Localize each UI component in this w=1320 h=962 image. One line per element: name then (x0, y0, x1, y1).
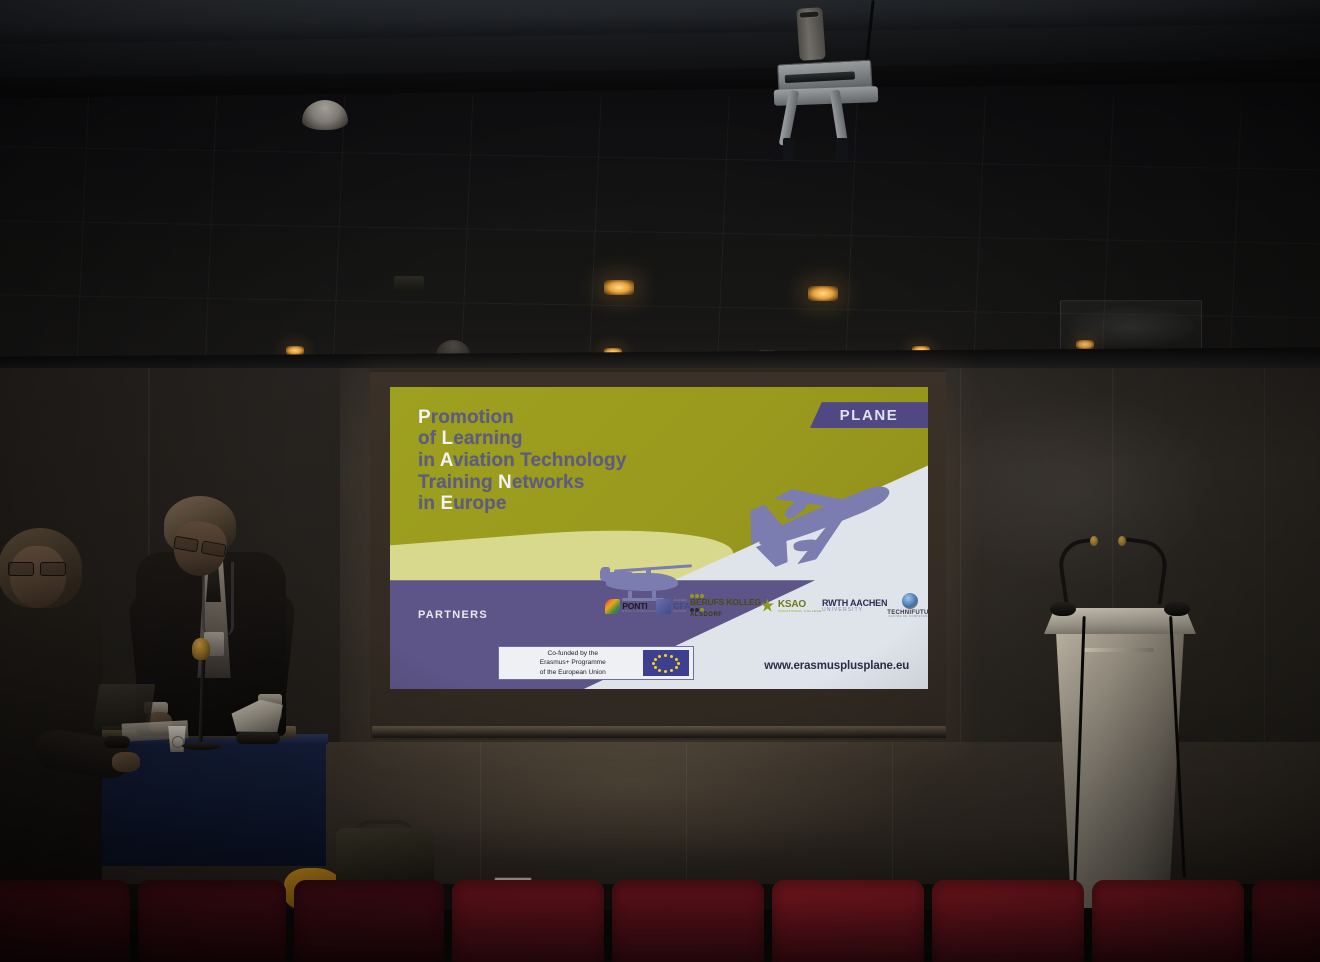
presentation-slide: PLANE Promotion of Learning in Aviation … (390, 387, 928, 689)
project-website-url: www.erasmusplusplane.eu (764, 660, 909, 672)
lectern-label-slot (1082, 648, 1154, 652)
logo-sub-text: VOCATIONAL COLLEGE (778, 610, 822, 613)
title-line-5: in Europe (418, 493, 626, 515)
title-line-3: in Aviation Technology (418, 450, 626, 472)
logo-sub-text: ALSDORF (690, 612, 723, 618)
screen-bottom-bar (372, 726, 946, 738)
auditorium-seat[interactable] (772, 880, 924, 962)
projector-lens-housing (796, 7, 826, 61)
title-line-2: of Learning (418, 428, 626, 450)
partner-logos: FONDAZIONE PONTI EMILIA-ROMAGNA AFANEM C… (605, 585, 912, 627)
panel-seam (480, 742, 481, 888)
panel-seam (686, 742, 687, 888)
title-line-4: Training Networks (418, 472, 626, 494)
table-microphone-base (182, 742, 222, 750)
ceiling-projector (770, 46, 890, 166)
auditorium-seat[interactable] (0, 880, 130, 962)
logo-sub-text: EMILIA-ROMAGNA (622, 610, 656, 613)
logo-sub-text: UNIVERSITY (822, 608, 887, 613)
partner-logo-berufskolleg: BERUFS KOLLEG ALSDORF (690, 589, 761, 623)
title-line-1: Promotion (418, 407, 626, 429)
eu-line-2: Erasmus+ Programme (503, 658, 643, 667)
auditorium-seat[interactable] (138, 880, 286, 962)
auditorium-seat[interactable] (1252, 880, 1320, 962)
auditorium-scene: PLANE Promotion of Learning in Aviation … (0, 0, 1320, 962)
projector-foot-right (836, 138, 848, 160)
microphone-capsule-icon (1118, 536, 1126, 546)
auditorium-seat-row (0, 880, 1320, 962)
projector-foot-left (783, 138, 795, 160)
panel-seam (892, 742, 893, 888)
auditorium-seat[interactable] (1092, 880, 1244, 962)
logo-sub-text: CENTRE DE COMPETENCE (888, 616, 928, 619)
partner-logo-cfa: AFANEM CFA AFORP (656, 589, 690, 623)
eu-funding-box: Co-funded by the Erasmus+ Programme of t… (498, 646, 694, 680)
plane-tag-label: PLANE (840, 407, 899, 424)
auditorium-seat[interactable] (612, 880, 764, 962)
auditorium-seat[interactable] (294, 880, 444, 962)
european-union-flag-icon (643, 650, 689, 676)
partner-logo-ponti: FONDAZIONE PONTI EMILIA-ROMAGNA (605, 589, 656, 623)
ceiling-downlight (1076, 340, 1094, 349)
ceiling-downlight-off (394, 276, 424, 291)
eu-line-3: of the European Union (503, 668, 643, 677)
plane-acronym-tag: PLANE (810, 402, 928, 428)
eyeglasses-icon (8, 562, 66, 574)
partner-logo-technifutur: TECHNIFUTUR CENTRE DE COMPETENCE (887, 589, 928, 623)
eu-line-1: Co-funded by the (503, 649, 643, 658)
ceiling (0, 0, 1320, 372)
remote-control[interactable] (236, 732, 280, 744)
remote-control[interactable] (104, 736, 130, 748)
partner-logo-ksao: KSAO VOCATIONAL COLLEGE (761, 589, 822, 623)
table-microphone-head-icon (192, 638, 210, 660)
auditorium-seat[interactable] (452, 880, 604, 962)
microphone-capsule-icon (1090, 536, 1098, 546)
logo-sub-text: AFORP (673, 610, 690, 613)
microphone-mount-left (1050, 602, 1076, 616)
ceiling-downlight (808, 286, 838, 301)
logo-name: BERUFS KOLLEG (690, 599, 761, 607)
auditorium-seat[interactable] (932, 880, 1084, 962)
slide-title: Promotion of Learning in Aviation Techno… (418, 407, 626, 515)
microphone-mount-right (1164, 602, 1190, 616)
partners-label: PARTNERS (418, 609, 488, 621)
partner-logo-rwth-aachen: RWTH AACHEN UNIVERSITY (822, 589, 887, 623)
ceiling-downlight (604, 280, 634, 295)
lower-wall-light (330, 742, 1050, 894)
